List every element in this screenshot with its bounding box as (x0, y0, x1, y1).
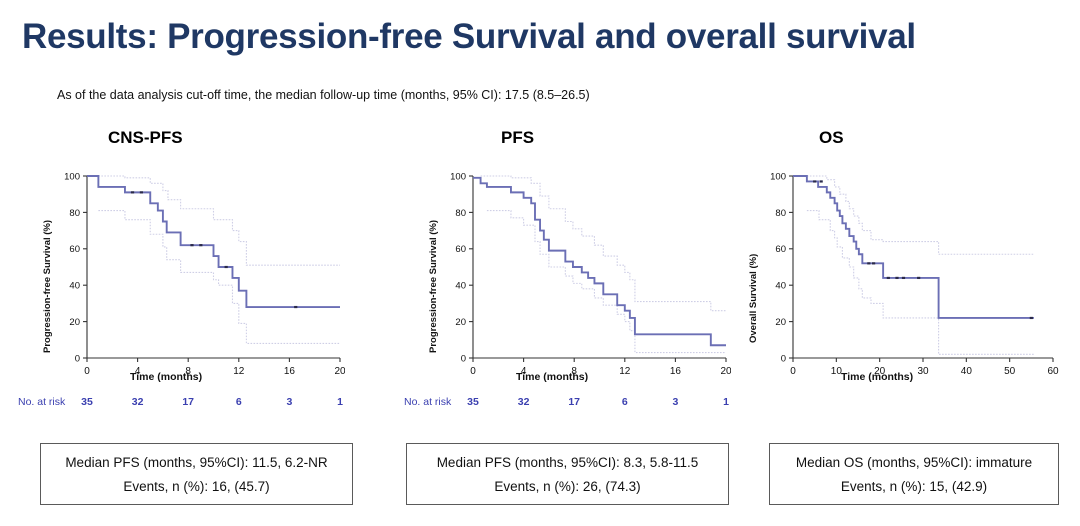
result-events-pfs: Events, n (%): 26, (74.3) (494, 479, 640, 494)
svg-text:50: 50 (1004, 366, 1016, 377)
y-axis-label-os: Overall Survival (%) (748, 254, 759, 343)
svg-text:20: 20 (334, 366, 345, 377)
chart-title-cns-pfs: CNS-PFS (108, 128, 183, 148)
chart-title-os: OS (819, 128, 844, 148)
svg-text:0: 0 (781, 353, 786, 364)
svg-text:20: 20 (775, 317, 786, 328)
svg-text:20: 20 (455, 317, 466, 328)
result-median-cns-pfs: Median PFS (months, 95%CI): 11.5, 6.2-NR (65, 455, 327, 470)
svg-text:100: 100 (770, 171, 786, 182)
at-risk-value: 3 (277, 396, 301, 408)
at-risk-label: No. at risk (404, 396, 451, 408)
at-risk-value: 32 (126, 396, 150, 408)
svg-text:0: 0 (461, 353, 466, 364)
svg-text:40: 40 (775, 281, 786, 292)
plot-area-pfs: 020406080100048121620 (441, 168, 731, 383)
x-axis-label-pfs: Time (months) (516, 371, 588, 383)
result-median-pfs: Median PFS (months, 95%CI): 8.3, 5.8-11.… (437, 455, 699, 470)
svg-text:40: 40 (455, 281, 466, 292)
svg-text:40: 40 (961, 366, 973, 377)
slide-root: Results: Progression-free Survival and o… (0, 0, 1080, 526)
result-box-cns-pfs: Median PFS (months, 95%CI): 11.5, 6.2-NR… (40, 443, 353, 505)
svg-text:12: 12 (233, 366, 245, 377)
svg-text:100: 100 (450, 171, 466, 182)
svg-text:80: 80 (775, 208, 786, 219)
svg-text:60: 60 (69, 244, 80, 255)
svg-text:0: 0 (470, 366, 476, 377)
svg-text:60: 60 (775, 244, 786, 255)
at-risk-label: No. at risk (18, 396, 65, 408)
at-risk-value: 32 (512, 396, 536, 408)
svg-text:60: 60 (455, 244, 466, 255)
svg-text:100: 100 (64, 171, 80, 182)
result-events-cns-pfs: Events, n (%): 16, (45.7) (123, 479, 269, 494)
svg-text:80: 80 (455, 208, 466, 219)
at-risk-value: 17 (176, 396, 200, 408)
at-risk-value: 6 (227, 396, 251, 408)
svg-text:60: 60 (1047, 366, 1059, 377)
at-risk-value: 17 (562, 396, 586, 408)
km-plot-cns-pfs: 020406080100048121620 (55, 168, 345, 383)
at-risk-value: 6 (613, 396, 637, 408)
at-risk-value: 1 (328, 396, 352, 408)
result-box-pfs: Median PFS (months, 95%CI): 8.3, 5.8-11.… (406, 443, 729, 505)
x-axis-label-cns-pfs: Time (months) (130, 371, 202, 383)
svg-text:0: 0 (790, 366, 796, 377)
svg-text:16: 16 (670, 366, 682, 377)
page-subtitle: As of the data analysis cut-off time, th… (57, 88, 590, 102)
svg-text:40: 40 (69, 281, 80, 292)
y-axis-label-cns-pfs: Progression-free Survival (%) (42, 220, 53, 353)
svg-text:20: 20 (69, 317, 80, 328)
svg-text:16: 16 (284, 366, 296, 377)
plot-area-cns-pfs: 020406080100048121620 (55, 168, 345, 383)
svg-text:0: 0 (84, 366, 90, 377)
svg-text:0: 0 (75, 353, 80, 364)
svg-text:30: 30 (917, 366, 929, 377)
page-title: Results: Progression-free Survival and o… (22, 18, 916, 57)
svg-text:12: 12 (619, 366, 631, 377)
x-axis-label-os: Time (months) (841, 371, 913, 383)
plot-area-os: 0204060801000102030405060 (761, 168, 1061, 383)
svg-text:80: 80 (69, 208, 80, 219)
at-risk-value: 1 (714, 396, 738, 408)
at-risk-value: 3 (663, 396, 687, 408)
at-risk-value: 35 (75, 396, 99, 408)
km-plot-os: 0204060801000102030405060 (761, 168, 1061, 383)
at-risk-value: 35 (461, 396, 485, 408)
result-median-os: Median OS (months, 95%CI): immature (796, 455, 1032, 470)
result-events-os: Events, n (%): 15, (42.9) (841, 479, 987, 494)
svg-text:20: 20 (720, 366, 731, 377)
chart-title-pfs: PFS (501, 128, 534, 148)
result-box-os: Median OS (months, 95%CI): immature Even… (769, 443, 1059, 505)
km-plot-pfs: 020406080100048121620 (441, 168, 731, 383)
y-axis-label-pfs: Progression-free Survival (%) (428, 220, 439, 353)
